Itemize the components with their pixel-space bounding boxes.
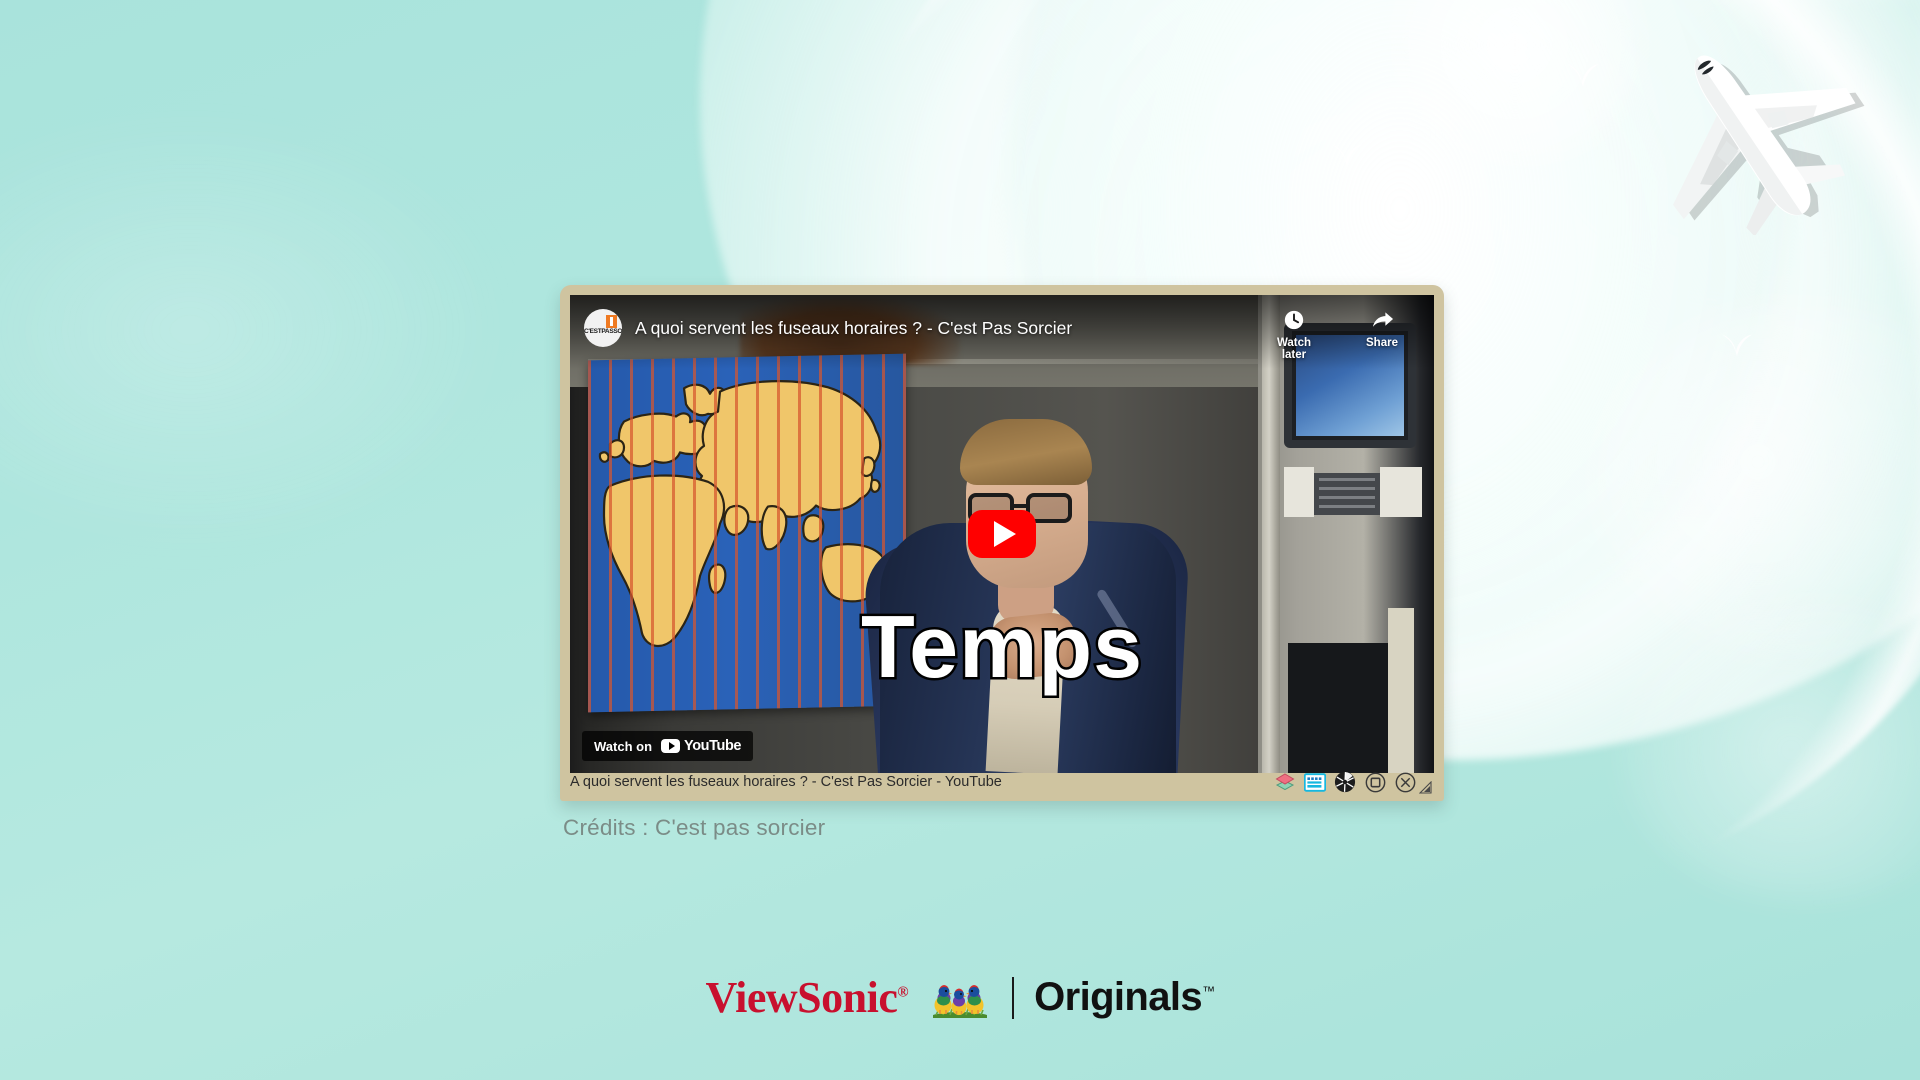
video-player[interactable]: C'ESTPASSORCIER A quoi servent les fusea… xyxy=(570,295,1434,773)
cloud-shape xyxy=(0,120,500,540)
bird-icon xyxy=(1330,142,1364,168)
status-bar-title: A quoi servent les fuseaux horaires ? - … xyxy=(570,774,1274,790)
channel-avatar[interactable]: C'ESTPASSORCIER xyxy=(584,309,622,347)
timezone-stripes xyxy=(588,354,906,713)
youtube-logo: YouTube xyxy=(661,738,741,754)
bird-icon xyxy=(1565,62,1601,88)
world-map-board xyxy=(588,354,906,713)
page-root: C'ESTPASSORCIER A quoi servent les fusea… xyxy=(0,0,1920,1080)
player-top-overlay: C'ESTPASSORCIER A quoi servent les fusea… xyxy=(570,295,1434,369)
cloud-shape xyxy=(1365,0,1665,170)
channel-avatar-label: C'ESTPASSORCIER xyxy=(584,328,622,336)
layers-icon[interactable] xyxy=(1274,771,1296,793)
watch-later-label: Watch later xyxy=(1264,337,1324,361)
cloud-shape xyxy=(1590,300,1920,660)
youtube-play-icon xyxy=(661,739,680,753)
watch-on-prefix: Watch on xyxy=(594,739,652,754)
channel-logo-mark xyxy=(606,315,617,328)
share-button[interactable]: Share xyxy=(1352,309,1412,361)
video-window[interactable]: C'ESTPASSORCIER A quoi servent les fusea… xyxy=(560,285,1444,801)
video-subtitle-word: Temps xyxy=(861,603,1143,691)
originals-text: Originals xyxy=(1034,975,1202,1019)
keyboard-icon[interactable] xyxy=(1304,771,1326,793)
credits-text: Crédits : C'est pas sorcier xyxy=(563,815,825,841)
resize-grip-icon[interactable] xyxy=(1419,781,1432,794)
viewsonic-finches-icon xyxy=(928,976,992,1020)
logo-divider xyxy=(1012,977,1014,1019)
airplane-icon xyxy=(1640,35,1870,235)
clock-icon xyxy=(1264,309,1324,331)
player-actions: Watch later Share xyxy=(1264,309,1412,361)
presenter-figure xyxy=(870,353,1180,773)
viewsonic-wordmark: ViewSonic® xyxy=(706,976,909,1020)
window-status-bar: A quoi servent les fuseaux horaires ? - … xyxy=(570,769,1434,795)
youtube-brand-label: YouTube xyxy=(684,738,741,754)
watch-on-youtube-button[interactable]: Watch on YouTube xyxy=(582,731,753,761)
cloud-shape xyxy=(1620,600,1920,900)
close-icon[interactable] xyxy=(1394,771,1416,793)
play-icon xyxy=(994,521,1016,547)
share-label: Share xyxy=(1352,337,1412,349)
share-arrow-icon xyxy=(1352,309,1412,331)
status-bar-icons xyxy=(1274,771,1434,793)
video-title[interactable]: A quoi servent les fuseaux horaires ? - … xyxy=(635,309,1264,347)
bird-icon xyxy=(1720,332,1754,358)
stop-record-icon[interactable] xyxy=(1364,771,1386,793)
viewsonic-trademark: ® xyxy=(897,984,908,1000)
camera-shutter-icon[interactable] xyxy=(1334,771,1356,793)
originals-wordmark: Originals™ xyxy=(1034,975,1214,1020)
play-button[interactable] xyxy=(968,510,1036,558)
originals-trademark: ™ xyxy=(1202,984,1214,999)
viewsonic-originals-logo: ViewSonic® xyxy=(0,975,1920,1020)
viewsonic-brand-text: ViewSonic xyxy=(706,973,898,1022)
watch-later-button[interactable]: Watch later xyxy=(1264,309,1324,361)
